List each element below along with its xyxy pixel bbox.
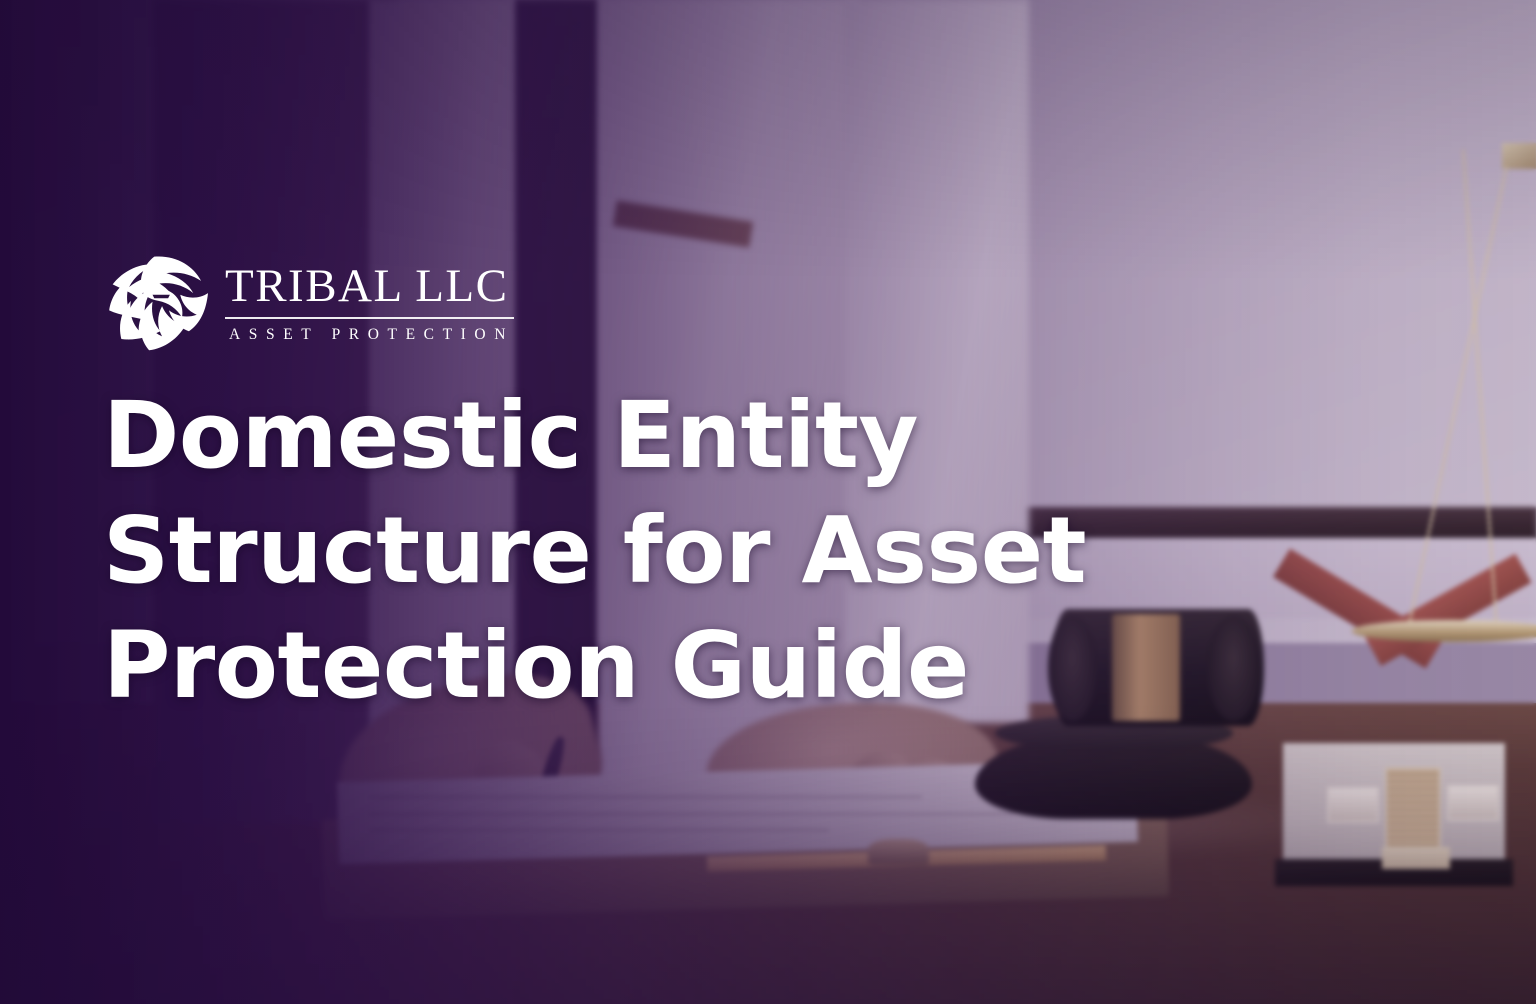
brand-tagline: ASSET PROTECTION <box>225 326 514 344</box>
brand-name: TRIBAL LLC <box>225 263 514 310</box>
title-line-3: Protection Guide <box>103 608 1203 723</box>
eagle-head-emblem-icon <box>103 248 209 352</box>
hero-banner: TRIBAL LLC ASSET PROTECTION Domestic Ent… <box>0 0 1536 1004</box>
page-title: Domestic Entity Structure for Asset Prot… <box>103 378 1203 723</box>
hero-content: TRIBAL LLC ASSET PROTECTION Domestic Ent… <box>103 246 1203 723</box>
title-line-1: Domestic Entity <box>103 378 1203 493</box>
brand-divider <box>225 317 514 319</box>
title-line-2: Structure for Asset <box>103 493 1203 608</box>
brand-logo[interactable]: TRIBAL LLC ASSET PROTECTION <box>103 246 1203 354</box>
brand-wordmark: TRIBAL LLC ASSET PROTECTION <box>225 257 514 344</box>
